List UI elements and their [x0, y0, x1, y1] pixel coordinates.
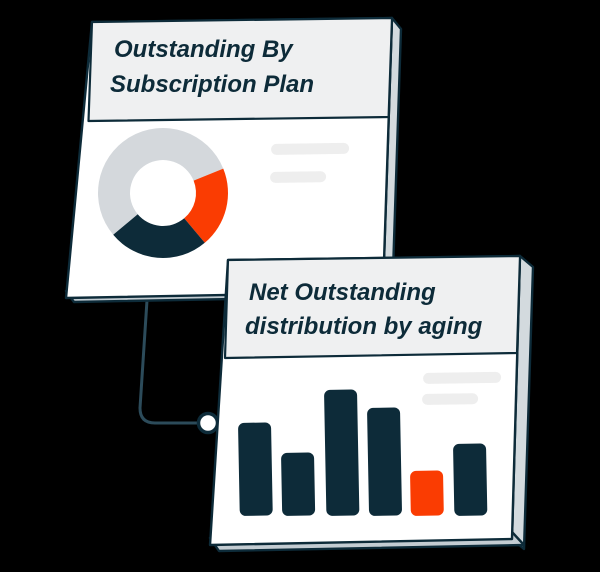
connector-path [140, 285, 205, 423]
card-net-outstanding-distribution-by-aging[interactable]: Net Outstanding distribution by aging [210, 256, 533, 551]
bar-0 [238, 422, 273, 516]
card-title-line-1: Net Outstanding [249, 279, 436, 306]
legend-line-long [271, 143, 349, 155]
bar-4-highlight [410, 470, 444, 516]
illustration-stage: Outstanding By Subscription Plan [0, 0, 600, 572]
card-title-line-2: distribution by aging [245, 313, 483, 340]
card-header [225, 256, 520, 358]
dashboard-cards-illustration: Outstanding By Subscription Plan [0, 0, 600, 572]
bar-3 [367, 407, 402, 516]
circle-node-icon [199, 414, 218, 433]
legend-line-long [423, 372, 501, 384]
bar-2 [324, 389, 359, 516]
legend-line-short [422, 393, 478, 405]
card-header [89, 18, 393, 121]
card-title-line-2: Subscription Plan [110, 71, 314, 98]
legend-line-short [270, 171, 326, 183]
card-connector [140, 285, 218, 433]
card-title-line-1: Outstanding By [114, 36, 294, 63]
bar-1 [281, 452, 315, 516]
bar-5 [453, 443, 487, 516]
